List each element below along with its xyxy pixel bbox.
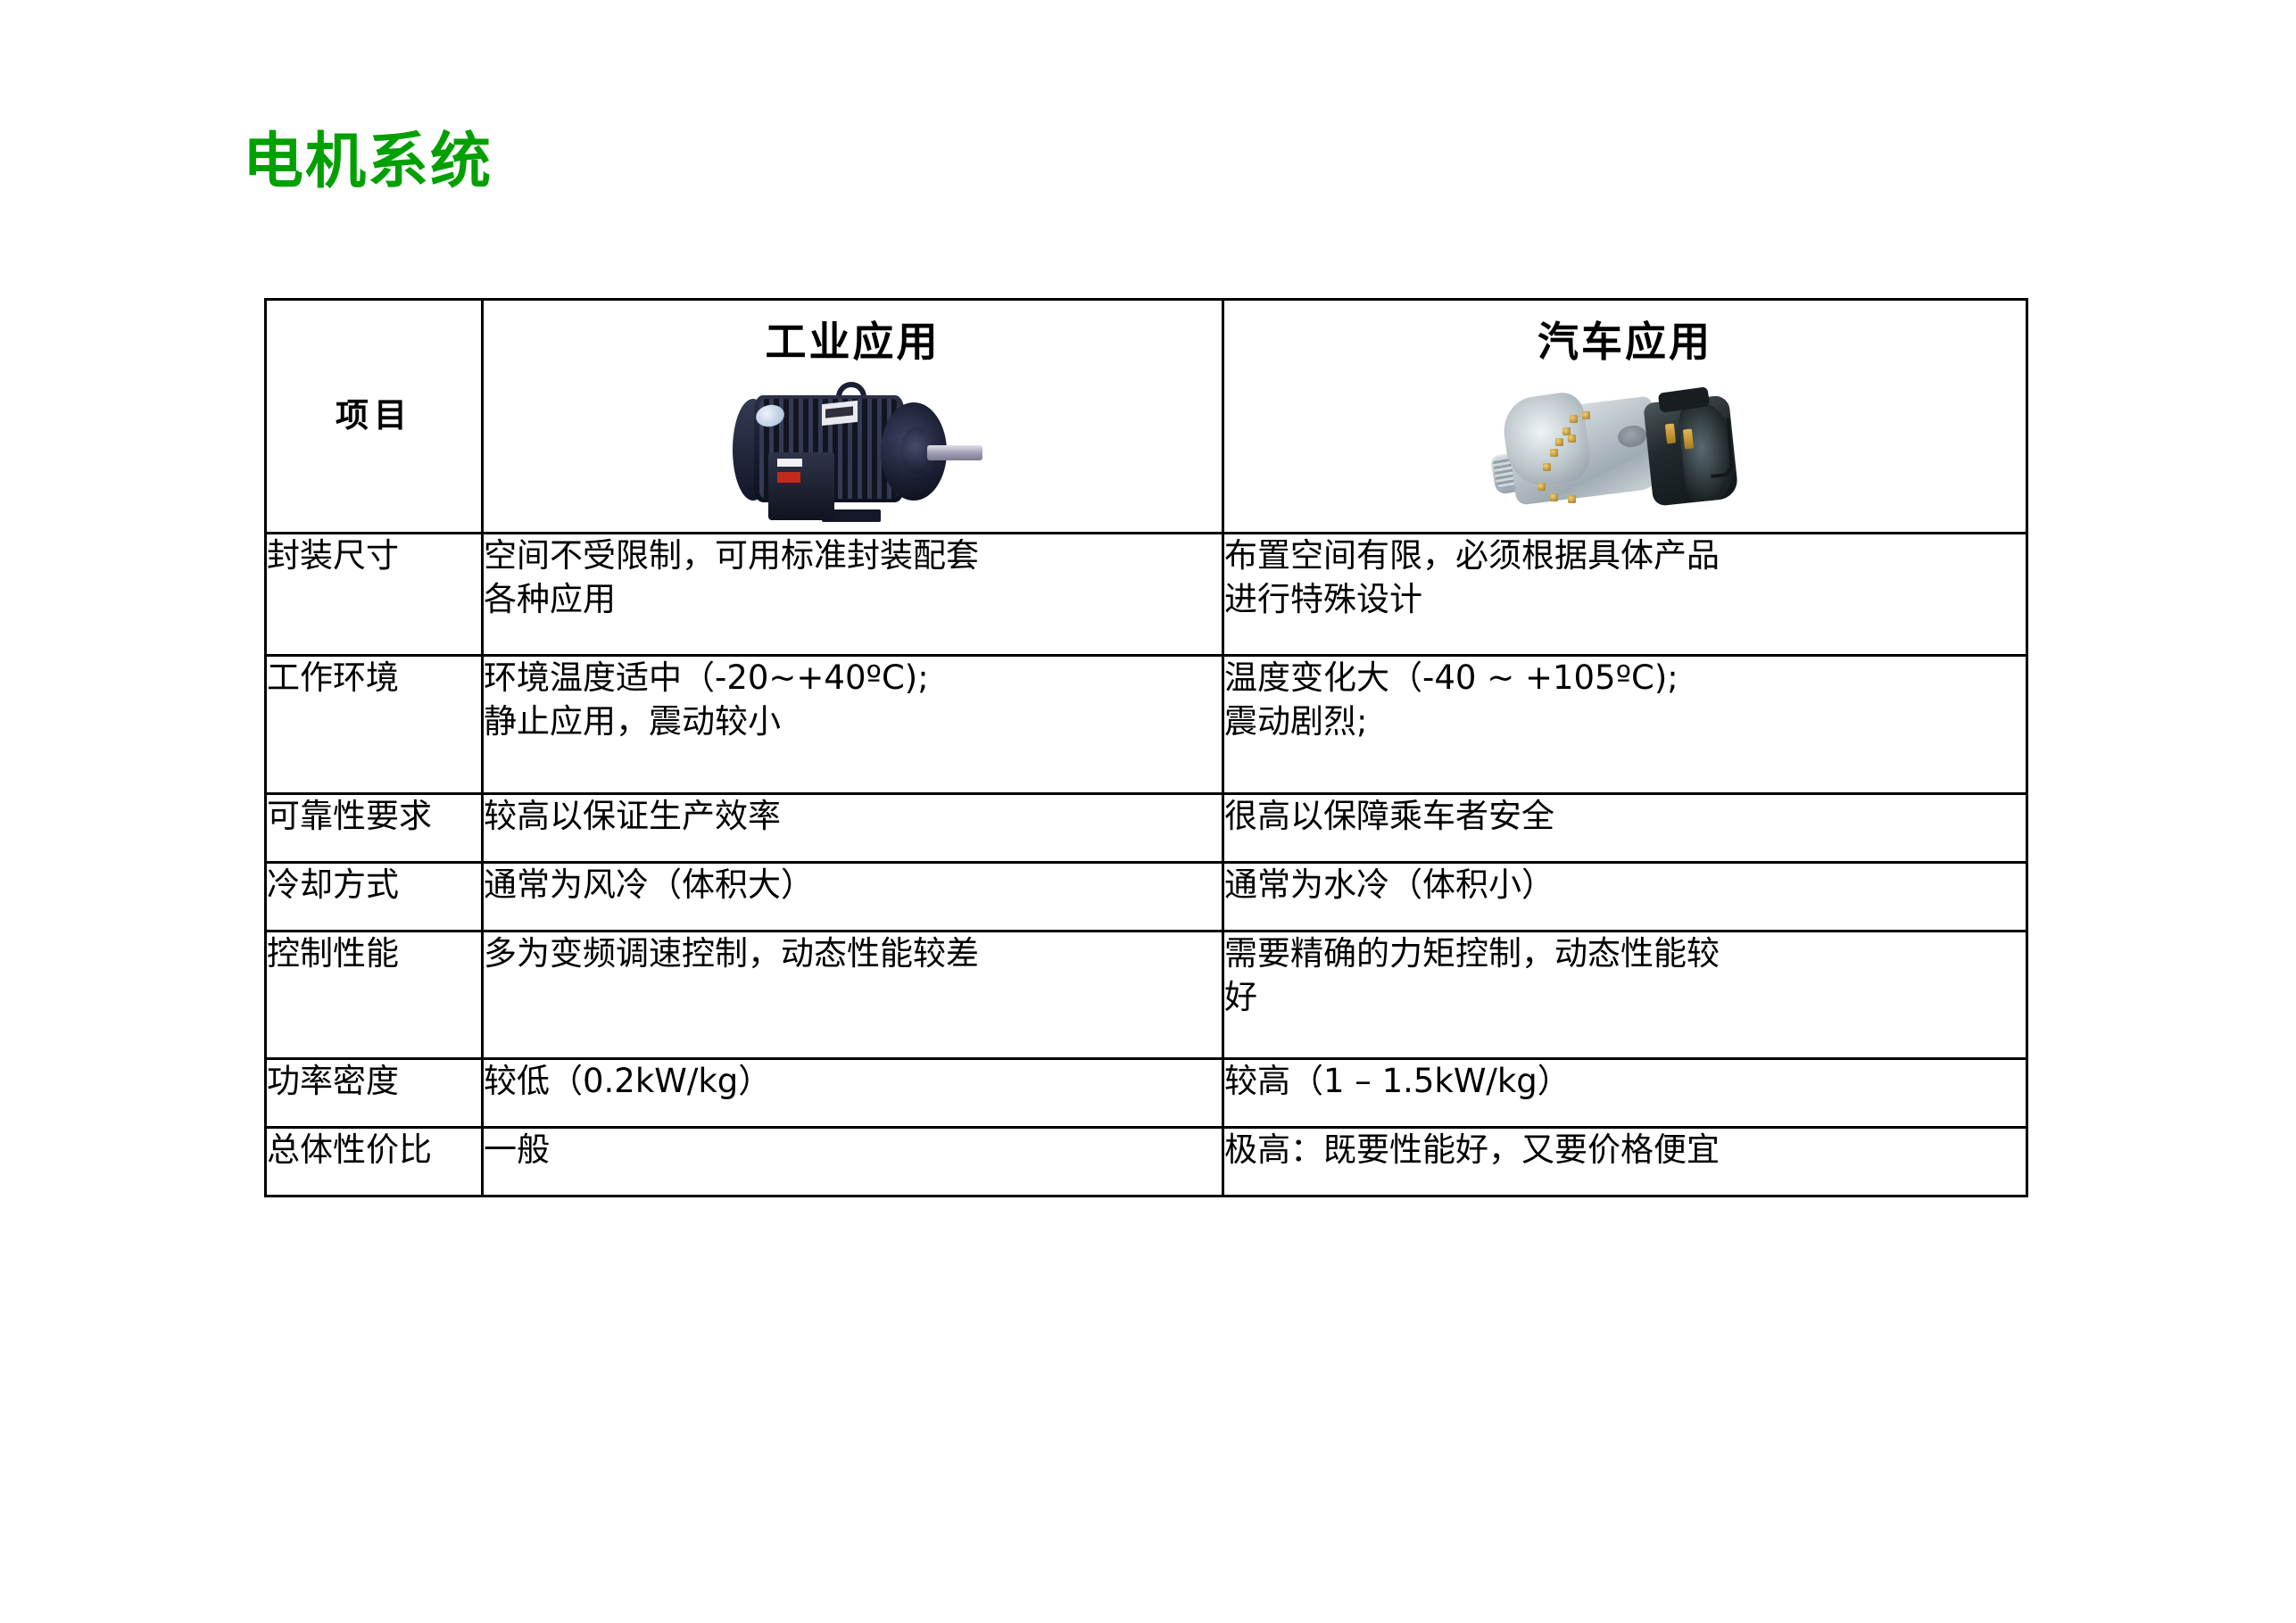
column-header-automotive-label: 汽车应用: [1224, 301, 2026, 369]
row-automotive-cell: 较高（1 – 1.5kW/kg）: [1223, 1058, 2027, 1127]
row-automotive-cell: 极高：既要性能好，又要价格便宜: [1223, 1127, 2027, 1196]
cell-line: 空间不受限制，可用标准封装配套: [484, 534, 1222, 578]
row-automotive-cell: 温度变化大（-40 ~ +105ºC); 震动剧烈;: [1223, 655, 2027, 793]
table-row: 控制性能 多为变频调速控制，动态性能较差 需要精确的力矩控制，动态性能较 好: [266, 931, 2027, 1058]
row-industrial-cell: 空间不受限制，可用标准封装配套 各种应用: [483, 533, 1223, 655]
cell-line: 较高（1 – 1.5kW/kg）: [1224, 1060, 2026, 1104]
cell-line: 环境温度适中（-20~+40ºC);: [484, 657, 1222, 700]
cell-line: 通常为水冷（体积小）: [1224, 864, 2026, 907]
row-label: 冷却方式: [266, 862, 483, 931]
motor-output-shaft: [927, 445, 982, 460]
column-header-industrial: 工业应用: [483, 300, 1223, 534]
cell-line: 震动剧烈;: [1224, 700, 2026, 744]
row-automotive-cell: 很高以保障乘车者安全: [1223, 793, 2027, 862]
cell-line: 较高以保证生产效率: [484, 795, 1222, 839]
row-label: 工作环境: [266, 655, 483, 793]
row-industrial-cell: 较低（0.2kW/kg）: [483, 1058, 1223, 1127]
bolt-icon: [1568, 495, 1576, 503]
cell-line: 温度变化大（-40 ~ +105ºC);: [1224, 657, 2026, 700]
bolt-icon: [1538, 483, 1546, 491]
row-automotive-cell: 布置空间有限，必须根据具体产品 进行特殊设计: [1223, 533, 2027, 655]
automotive-motor-image: [1224, 373, 2026, 532]
table-row: 冷却方式 通常为风冷（体积大） 通常为水冷（体积小）: [266, 862, 2027, 931]
table-header-row: 项目 工业应用: [266, 300, 2027, 534]
row-industrial-cell: 通常为风冷（体积大）: [483, 862, 1223, 931]
page-title: 电机系统: [243, 132, 493, 193]
cell-line: 多为变频调速控制，动态性能较差: [484, 932, 1222, 976]
column-header-item: 项目: [266, 300, 483, 534]
housing-bolts: [1491, 377, 1759, 527]
industrial-motor-illustration: [706, 376, 1000, 529]
row-industrial-cell: 较高以保证生产效率: [483, 793, 1223, 862]
row-industrial-cell: 环境温度适中（-20~+40ºC); 静止应用，震动较小: [483, 655, 1223, 793]
industrial-motor-image: [484, 373, 1222, 532]
row-label: 可靠性要求: [266, 793, 483, 862]
column-header-industrial-label: 工业应用: [484, 301, 1222, 369]
cell-line: 通常为风冷（体积大）: [484, 864, 1222, 907]
bolt-icon: [1550, 449, 1558, 457]
cell-line: 很高以保障乘车者安全: [1224, 795, 2026, 839]
bolt-icon: [1568, 435, 1576, 443]
table-row: 工作环境 环境温度适中（-20~+40ºC); 静止应用，震动较小 温度变化大（…: [266, 655, 2027, 793]
row-label: 功率密度: [266, 1058, 483, 1127]
automotive-motor-illustration: [1491, 377, 1759, 527]
cell-line: 布置空间有限，必须根据具体产品: [1224, 534, 2026, 578]
row-label: 封装尺寸: [266, 533, 483, 655]
bolt-icon: [1570, 415, 1578, 423]
row-automotive-cell: 通常为水冷（体积小）: [1223, 862, 2027, 931]
bolt-icon: [1555, 438, 1563, 446]
cell-line: 需要精确的力矩控制，动态性能较: [1224, 932, 2026, 976]
cell-line: 静止应用，震动较小: [484, 700, 1222, 744]
row-label: 总体性价比: [266, 1127, 483, 1196]
table-row: 封装尺寸 空间不受限制，可用标准封装配套 各种应用 布置空间有限，必须根据具体产…: [266, 533, 2027, 655]
motor-comparison-table: 项目 工业应用: [264, 298, 2028, 1197]
bolt-icon: [1550, 493, 1558, 501]
cell-line: 进行特殊设计: [1224, 578, 2026, 622]
bolt-icon: [1543, 463, 1551, 471]
cell-line: 较低（0.2kW/kg）: [484, 1060, 1222, 1104]
row-industrial-cell: 多为变频调速控制，动态性能较差: [483, 931, 1223, 1058]
row-industrial-cell: 一般: [483, 1127, 1223, 1196]
cell-line: 好: [1224, 976, 2026, 1020]
column-header-automotive: 汽车应用: [1223, 300, 2027, 534]
bolt-icon: [1582, 411, 1590, 419]
table-row: 总体性价比 一般 极高：既要性能好，又要价格便宜: [266, 1127, 2027, 1196]
cell-line: 各种应用: [484, 578, 1222, 622]
cell-line: 极高：既要性能好，又要价格便宜: [1224, 1129, 2026, 1172]
table-row: 功率密度 较低（0.2kW/kg） 较高（1 – 1.5kW/kg）: [266, 1058, 2027, 1127]
row-label: 控制性能: [266, 931, 483, 1058]
row-automotive-cell: 需要精确的力矩控制，动态性能较 好: [1223, 931, 2027, 1058]
cell-line: 一般: [484, 1129, 1222, 1172]
table-row: 可靠性要求 较高以保证生产效率 很高以保障乘车者安全: [266, 793, 2027, 862]
terminal-box-label: [777, 459, 802, 467]
terminal-box-red-decal: [777, 472, 800, 483]
